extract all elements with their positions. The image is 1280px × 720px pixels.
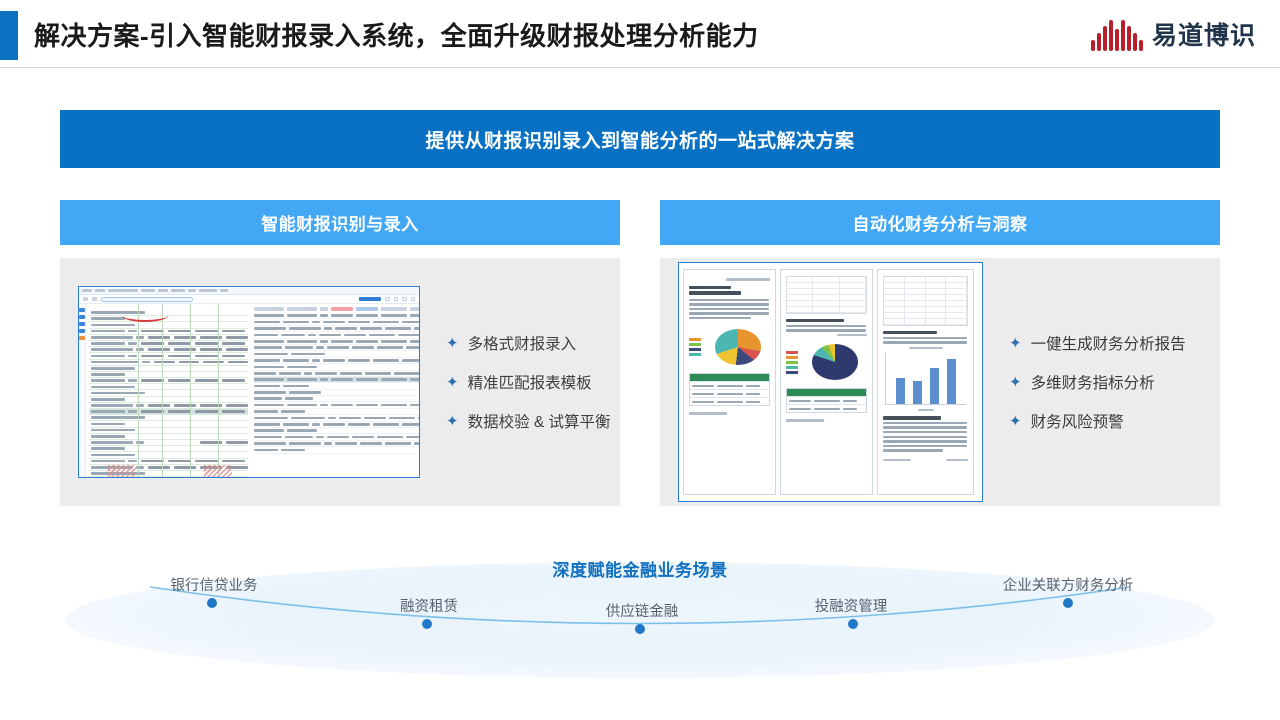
diamond-bullet-icon: ✦: [1009, 414, 1022, 429]
report-table: [689, 373, 770, 406]
screenshot-subtoolbar: [79, 295, 419, 304]
bar-chart: [885, 353, 966, 405]
flow-dot-1[interactable]: [207, 598, 217, 608]
diamond-bullet-icon: ✦: [1009, 336, 1022, 351]
brand-name: 易道博识: [1152, 16, 1256, 52]
pie-legend: [689, 338, 701, 356]
card-left-header: 智能财报识别与录入: [60, 200, 620, 245]
header-accent-bar: [0, 11, 18, 60]
list-item: ✦ 精准匹配报表模板: [446, 371, 620, 393]
screenshot-toolbar: [79, 287, 419, 295]
pie-legend: [786, 351, 798, 374]
card-automated-analysis: 自动化财务分析与洞察: [660, 200, 1220, 506]
report-table: [786, 388, 867, 413]
bullet-label: 多维财务指标分析: [1031, 371, 1155, 393]
diamond-bullet-icon: ✦: [446, 414, 459, 429]
header-divider: [0, 67, 1280, 68]
brand-logo: 易道博识: [1091, 16, 1256, 52]
screenshot-document-pane: [86, 304, 251, 478]
diamond-bullet-icon: ✦: [1009, 375, 1022, 390]
card-right-bullet-list: ✦ 一健生成财务分析报告 ✦ 多维财务指标分析 ✦ 财务风险预警: [983, 315, 1220, 449]
list-item: ✦ 财务风险预警: [1009, 410, 1220, 432]
flow-node-label-5[interactable]: 企业关联方财务分析: [1003, 574, 1134, 595]
list-item: ✦ 一健生成财务分析报告: [1009, 332, 1220, 354]
card-intelligent-recognition: 智能财报识别与录入: [60, 200, 620, 506]
card-left-title: 智能财报识别与录入: [261, 210, 419, 235]
flow-node-label-2[interactable]: 融资租赁: [400, 595, 458, 616]
flow-node-label-4[interactable]: 投融资管理: [815, 595, 888, 616]
business-scenario-flow: 深度赋能金融业务场景 银行信贷业务 融资租赁 供应链金融 投融资管理 企业关联方…: [0, 540, 1280, 720]
bullet-label: 精准匹配报表模板: [468, 371, 592, 393]
flow-node-label-1[interactable]: 银行信贷业务: [171, 574, 258, 595]
pie-chart: [812, 344, 858, 380]
card-left-bullet-list: ✦ 多格式财报录入 ✦ 精准匹配报表模板 ✦ 数据校验 & 试算平衡: [420, 315, 620, 449]
page-title: 解决方案-引入智能财报录入系统，全面升级财报处理分析能力: [34, 16, 759, 53]
report-grid-table: [786, 276, 867, 314]
waveform-logo-icon: [1091, 17, 1143, 51]
pie-chart: [715, 329, 761, 365]
flow-node-label-3[interactable]: 供应链金融: [606, 600, 679, 621]
diamond-bullet-icon: ✦: [446, 375, 459, 390]
slide-header: 解决方案-引入智能财报录入系统，全面升级财报处理分析能力 易道博识: [0, 0, 1280, 68]
bullet-label: 多格式财报录入: [468, 332, 577, 354]
report-page-2: [780, 269, 873, 495]
annotation-arc-icon: [122, 309, 168, 322]
flow-arc-graphic: [0, 540, 1280, 720]
diamond-bullet-icon: ✦: [446, 336, 459, 351]
solution-banner: 提供从财报识别录入到智能分析的一站式解决方案: [60, 110, 1220, 168]
flow-dot-3[interactable]: [635, 624, 645, 634]
flow-dot-4[interactable]: [848, 619, 858, 629]
report-page-1: [683, 269, 776, 495]
slide: 解决方案-引入智能财报录入系统，全面升级财报处理分析能力 易道博识 提供从财报识…: [0, 0, 1280, 720]
card-right-header: 自动化财务分析与洞察: [660, 200, 1220, 245]
screenshot-left-rail: [79, 304, 86, 478]
financial-analysis-report-screenshot: [678, 262, 983, 502]
card-right-title: 自动化财务分析与洞察: [853, 210, 1028, 235]
flow-dot-2[interactable]: [422, 619, 432, 629]
solution-banner-text: 提供从财报识别录入到智能分析的一站式解决方案: [425, 126, 854, 153]
card-right-body: ✦ 一健生成财务分析报告 ✦ 多维财务指标分析 ✦ 财务风险预警: [660, 258, 1220, 506]
list-item: ✦ 多格式财报录入: [446, 332, 620, 354]
list-item: ✦ 多维财务指标分析: [1009, 371, 1220, 393]
financial-statement-entry-screenshot: [78, 286, 420, 478]
flow-dot-5[interactable]: [1063, 598, 1073, 608]
bullet-label: 数据校验 & 试算平衡: [468, 410, 611, 432]
bullet-label: 财务风险预警: [1031, 410, 1124, 432]
list-item: ✦ 数据校验 & 试算平衡: [446, 410, 620, 432]
card-left-body: ✦ 多格式财报录入 ✦ 精准匹配报表模板 ✦ 数据校验 & 试算平衡: [60, 258, 620, 506]
bullet-label: 一健生成财务分析报告: [1031, 332, 1186, 354]
report-grid-table: [883, 276, 968, 326]
screenshot-table-pane: [251, 304, 420, 478]
report-page-3: [877, 269, 974, 495]
